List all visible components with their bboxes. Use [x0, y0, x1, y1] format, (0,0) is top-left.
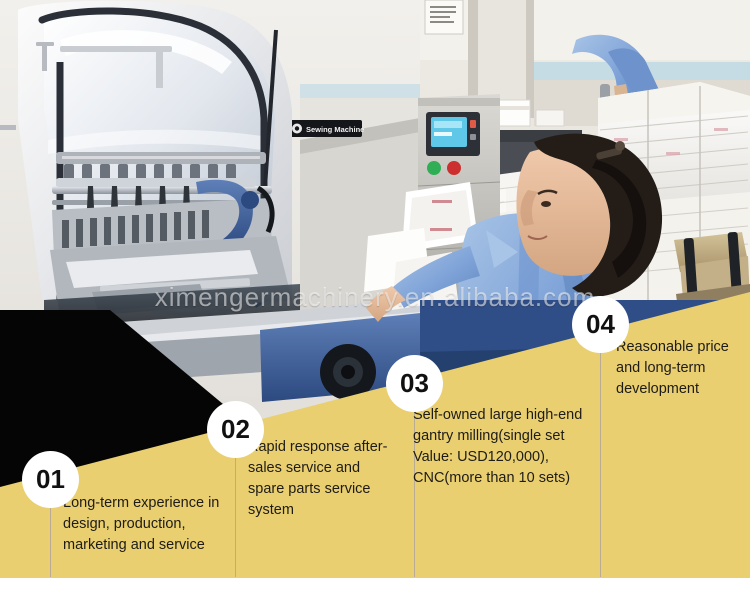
feature-badge-04: 04	[572, 296, 629, 353]
chair	[674, 232, 750, 311]
feature-divider-01	[50, 505, 51, 577]
machine-nameplate: Sewing Machine	[288, 120, 364, 137]
advantages-banner: Sewing Machine	[0, 0, 750, 593]
red-button	[447, 161, 461, 175]
svg-text:Sewing Machine: Sewing Machine	[306, 125, 364, 134]
feature-divider-04	[600, 350, 601, 577]
feature-text-04: Reasonable price and long-term developme…	[616, 337, 746, 400]
feature-text-03: Self-owned large high-end gantry milling…	[413, 405, 593, 489]
feature-badge-02: 02	[207, 401, 264, 458]
feature-text-02: Rapid response after-sales service and s…	[248, 437, 388, 521]
feature-badge-01: 01	[22, 451, 79, 508]
green-button	[427, 161, 441, 175]
wall-notice	[425, 0, 463, 34]
feature-badge-03: 03	[386, 355, 443, 412]
feature-text-01: Long-term experience in design, producti…	[63, 493, 238, 556]
